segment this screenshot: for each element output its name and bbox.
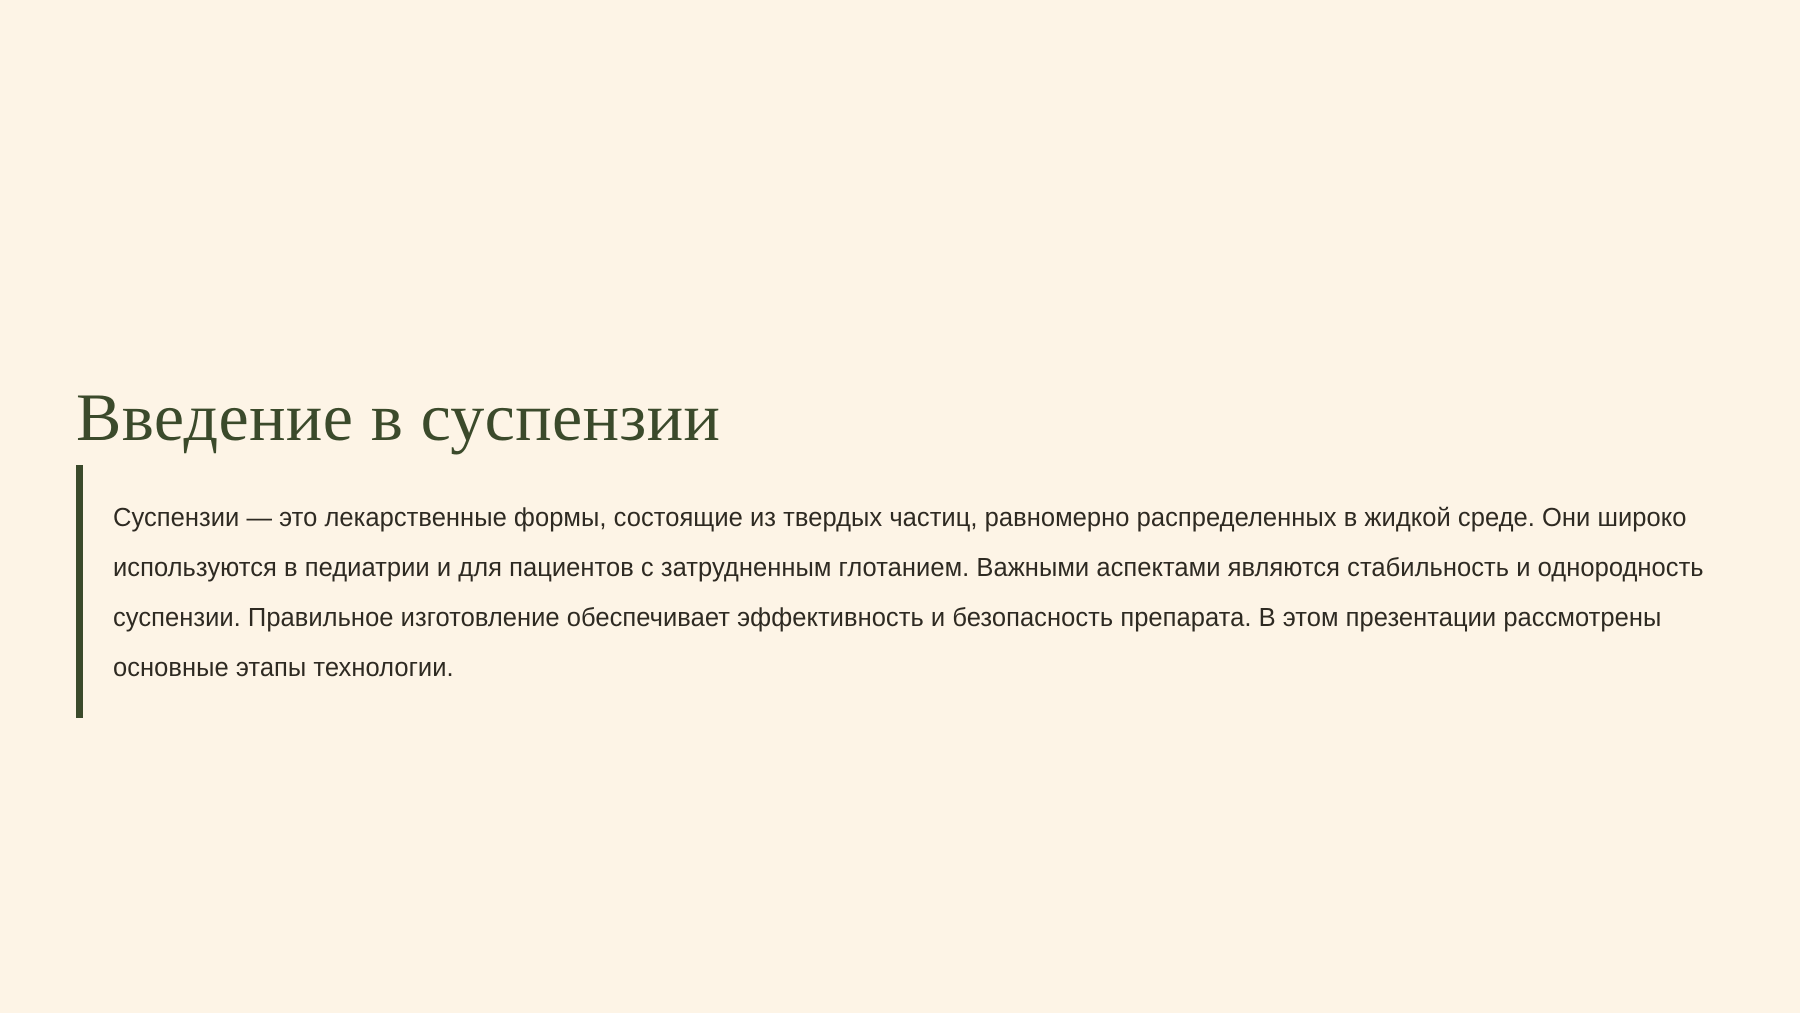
slide-body-text: Суспензии — это лекарственные формы, сос… bbox=[113, 491, 1713, 693]
body-callout-block: Суспензии — это лекарственные формы, сос… bbox=[76, 465, 1736, 718]
slide-title: Введение в суспензии bbox=[76, 383, 720, 451]
presentation-slide: Введение в суспензии Суспензии — это лек… bbox=[0, 0, 1800, 1013]
accent-bar bbox=[76, 465, 83, 718]
